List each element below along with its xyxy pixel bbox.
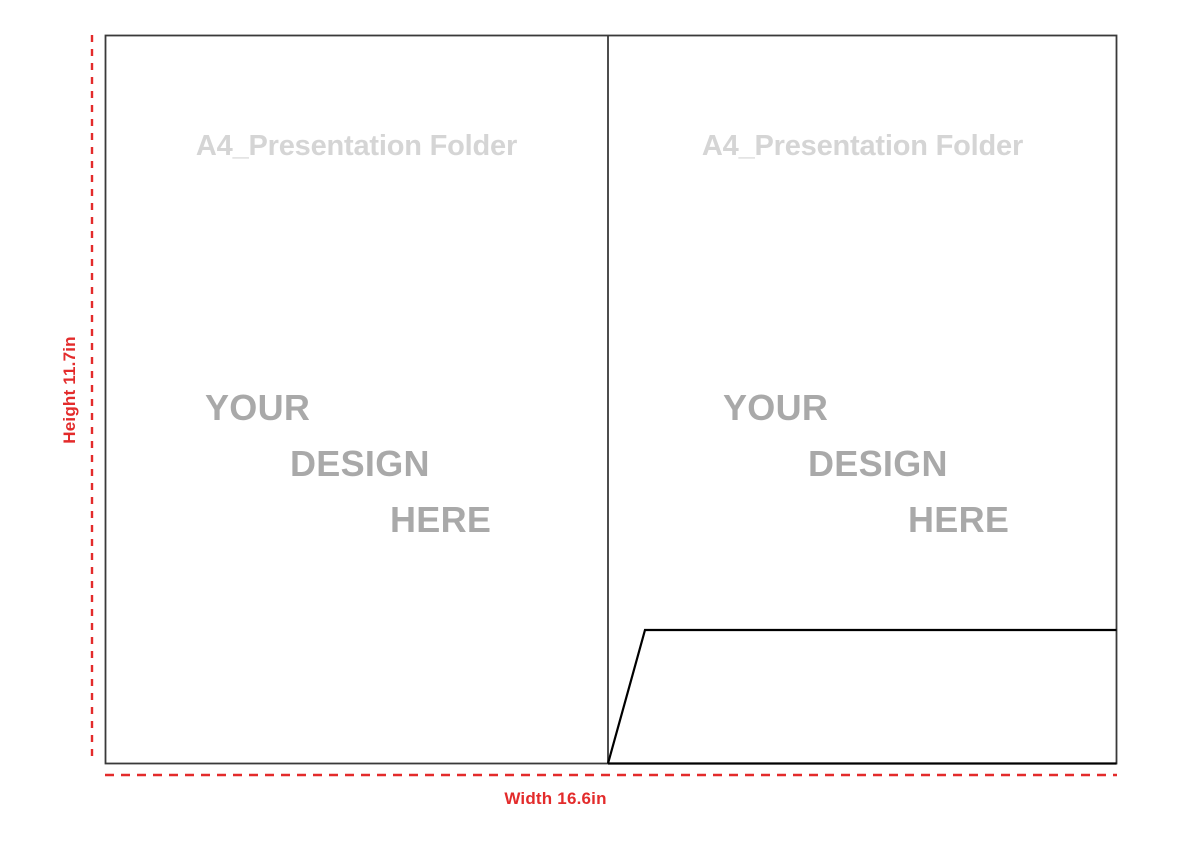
design-line-your: YOUR [608,380,1117,436]
design-line-your: YOUR [105,380,608,436]
right-panel-design-placeholder: YOUR DESIGN HERE [608,380,1117,548]
width-dimension-label: Width 16.6in [504,789,606,809]
design-line-design: DESIGN [105,436,608,492]
dieline-canvas: A4_Presentation Folder YOUR DESIGN HERE … [0,0,1186,842]
left-panel-design-placeholder: YOUR DESIGN HERE [105,380,608,548]
right-panel: A4_Presentation Folder YOUR DESIGN HERE [608,35,1117,764]
height-dimension-label-wrap: Height 11.7in [58,300,82,480]
design-line-design: DESIGN [608,436,1117,492]
left-panel-header: A4_Presentation Folder [105,130,608,163]
left-panel: A4_Presentation Folder YOUR DESIGN HERE [105,35,608,764]
height-dimension-label: Height 11.7in [60,336,80,443]
design-line-here: HERE [105,492,608,548]
right-panel-header: A4_Presentation Folder [608,130,1117,163]
design-line-here: HERE [608,492,1117,548]
width-dimension-label-wrap: Width 16.6in [0,789,1186,809]
